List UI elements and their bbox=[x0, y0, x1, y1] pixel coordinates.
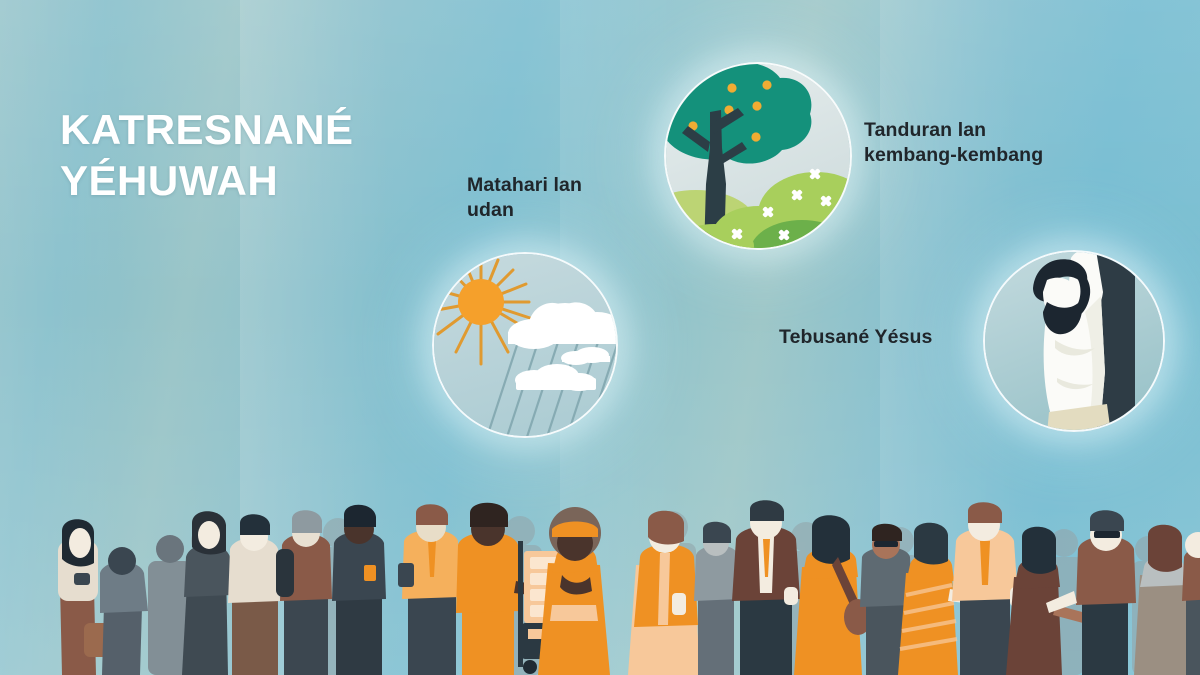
label-weather: Matahari lan udan bbox=[467, 173, 582, 223]
sun-and-rain-illustration bbox=[432, 252, 618, 438]
page-title: KATRESNANÉ YÉHUWAH bbox=[60, 104, 354, 206]
tree-and-flowers-illustration bbox=[664, 62, 852, 250]
crowd-of-people-illustration bbox=[0, 445, 1200, 675]
crowd-svg bbox=[0, 445, 1200, 675]
illustration-plants bbox=[664, 62, 852, 250]
label-ransom: Tebusané Yésus bbox=[779, 325, 933, 350]
illustration-ransom bbox=[983, 250, 1165, 432]
slide-canvas: KATRESNANÉ YÉHUWAH bbox=[0, 0, 1200, 675]
sun-and-rain-svg bbox=[434, 254, 616, 436]
jesus-on-stake-illustration bbox=[983, 250, 1165, 432]
label-plants: Tanduran lan kembang-kembang bbox=[864, 118, 1043, 168]
crowd-center bbox=[398, 500, 800, 675]
tree-and-flowers-svg bbox=[666, 64, 850, 248]
jesus-on-stake-svg bbox=[985, 252, 1163, 430]
illustration-weather bbox=[432, 252, 618, 438]
